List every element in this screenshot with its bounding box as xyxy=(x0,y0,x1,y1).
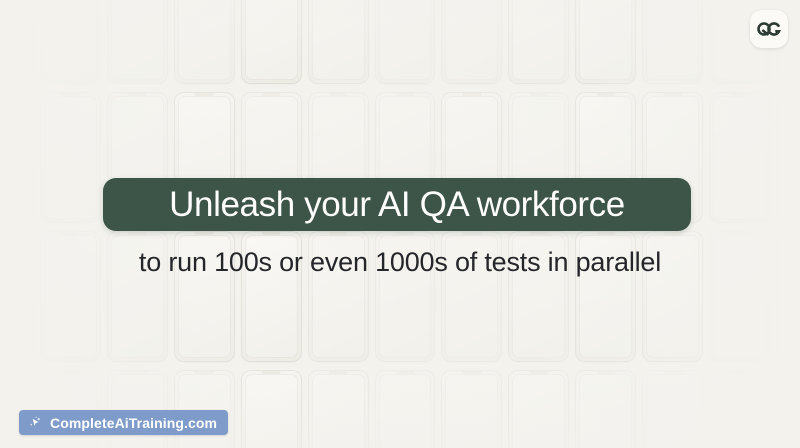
phone-mockup xyxy=(309,0,368,83)
phone-mockup xyxy=(576,371,635,448)
phone-mockup xyxy=(643,0,702,83)
phone-mockup xyxy=(710,371,769,448)
phone-mockup xyxy=(576,0,635,83)
brand-logo[interactable] xyxy=(750,10,788,48)
phone-mockup xyxy=(442,0,501,83)
slide-canvas: Unleash your AI QA workforce to run 100s… xyxy=(0,0,800,448)
phone-mockup xyxy=(509,371,568,448)
headline-pill: Unleash your AI QA workforce xyxy=(103,178,691,231)
headline-text: Unleash your AI QA workforce xyxy=(169,187,625,222)
qg-monogram-icon xyxy=(757,21,781,37)
phone-mockup xyxy=(175,0,234,83)
phone-mockup xyxy=(376,0,435,83)
sparkle-cursor-icon xyxy=(28,415,43,430)
phone-mockup xyxy=(242,0,301,83)
phone-mockup xyxy=(509,0,568,83)
phone-mockup xyxy=(0,0,33,83)
phone-mockup xyxy=(309,371,368,448)
phone-mockup xyxy=(108,0,167,83)
phone-mockup xyxy=(0,93,33,222)
watermark-label: CompleteAiTraining.com xyxy=(50,415,217,431)
phone-mockup xyxy=(777,93,800,222)
phone-mockup xyxy=(41,93,100,222)
phone-mockup xyxy=(777,371,800,448)
subtitle-text: to run 100s or even 1000s of tests in pa… xyxy=(0,248,800,278)
phone-mockup xyxy=(442,371,501,448)
phone-mockup xyxy=(710,93,769,222)
phone-mockup xyxy=(242,371,301,448)
phone-mockup xyxy=(41,0,100,83)
watermark-badge[interactable]: CompleteAiTraining.com xyxy=(19,410,228,435)
phone-mockup xyxy=(376,371,435,448)
phone-mockup xyxy=(643,371,702,448)
